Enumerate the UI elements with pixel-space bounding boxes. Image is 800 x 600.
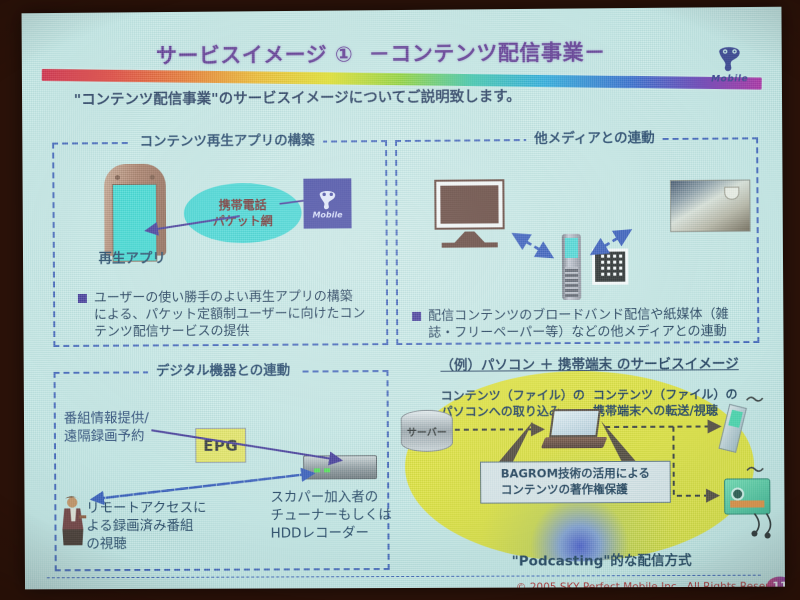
- tv-base: [442, 242, 498, 247]
- network-line-2: パケット網: [213, 213, 273, 230]
- label-tuner-hdd-recorder: スカパー加入者の チューナーもしくは HDDレコーダー: [270, 488, 392, 543]
- badge-wordmark: Mobile: [312, 210, 342, 219]
- mobile-brand-badge: Mobile: [303, 178, 351, 228]
- page-number-badge: 11: [767, 577, 785, 590]
- slide-subtitle: "コンテンツ配信事業"のサービスイメージについてご説明致します。: [74, 89, 521, 110]
- flip-phone-screen: [565, 238, 578, 258]
- server-label: サーバー: [407, 423, 447, 438]
- panel-heading-bottom-right: （例）パソコン ＋ 携帯端末 のサービスイメージ: [440, 357, 738, 375]
- presentation-slide: サービスイメージ ① －コンテンツ配信事業－ "コンテンツ配信事業"のサービスイ…: [22, 7, 785, 590]
- bullet-square-icon: [78, 294, 87, 303]
- mobile-mascot-icon-small: [314, 188, 340, 210]
- network-line-1: 携帯電話: [219, 197, 267, 213]
- bullet-square-icon: [412, 312, 421, 321]
- panel-heading-bottom-left: デジタル機器との連動: [148, 359, 298, 380]
- epg-box: EPG: [195, 428, 246, 463]
- qr-code-icon: [592, 249, 628, 285]
- bullet-text: ユーザーの使い勝手のよい再生アプリの構築 による、パケット定額制ユーザーに向けた…: [94, 288, 366, 341]
- page-title: サービスイメージ ① －コンテンツ配信事業－: [156, 40, 606, 68]
- bullet-top-right: 配信コンテンツのブロードバンド配信や紙媒体（雑 誌・フリーペーパー等）などの他メ…: [412, 306, 753, 342]
- newspaper-photo: [670, 180, 751, 233]
- mobile-mascot-icon: [712, 43, 746, 73]
- player-control-bar: [730, 500, 764, 507]
- label-remote-access: リモートアクセスに よる録画済み番組 の視聴: [86, 499, 207, 554]
- copyright-text: © 2005 SKY Perfect Mobile Inc., All Righ…: [516, 581, 785, 590]
- rainbow-divider-bar: [42, 69, 762, 90]
- flip-phone-keypad: [565, 267, 578, 297]
- recorder-led-2: [324, 468, 330, 472]
- label-program-info-source: 番組情報提供/ 遠隔録画予約: [64, 409, 149, 446]
- bullet-top-left: ユーザーの使い勝手のよい再生アプリの構築 による、パケット定額制ユーザーに向けた…: [78, 288, 377, 341]
- server-illustration: サーバー: [401, 410, 453, 452]
- hdd-recorder-illustration: [303, 455, 377, 479]
- television-illustration: [436, 181, 502, 227]
- player-reel: [731, 487, 744, 500]
- laptop-base: [541, 437, 608, 448]
- person-illustration: [60, 495, 86, 545]
- label-playback-app: 再生アプリ: [99, 252, 166, 268]
- mobile-terminal-screen: [728, 410, 743, 428]
- epg-label: EPG: [203, 436, 238, 454]
- caption-transfer-to-mobile: コンテンツ（ファイル）の 携帯端末への転送/視聴: [593, 386, 738, 419]
- recorder-led-1: [314, 468, 320, 472]
- phone-screw-left-icon: [115, 175, 120, 180]
- panel-heading-top-left: コンテンツ再生アプリの構築: [132, 129, 323, 150]
- footer-divider: [47, 575, 761, 579]
- projected-slide-photo: サービスイメージ ① －コンテンツ配信事業－ "コンテンツ配信事業"のサービスイ…: [0, 0, 800, 600]
- phone-screw-right-icon: [150, 175, 155, 180]
- panel-heading-top-right: 他メディアとの連動: [526, 126, 663, 147]
- bullet-text: 配信コンテンツのブロードバンド配信や紙媒体（雑 誌・フリーペーパー等）などの他メ…: [428, 306, 729, 342]
- laptop-screen: [549, 409, 601, 437]
- brand-logo: Mobile: [697, 37, 762, 90]
- bagrom-callout-box: BAGROM技術の活用による コンテンツの著作権保護: [480, 461, 671, 504]
- logo-wordmark: Mobile: [711, 74, 748, 84]
- coffee-cup-icon: [724, 187, 739, 200]
- portable-player-illustration: [724, 478, 770, 514]
- label-podcasting-method: "Podcasting"的な配信方式: [512, 554, 692, 571]
- bagrom-text: BAGROM技術の活用による コンテンツの著作権保護: [501, 466, 650, 498]
